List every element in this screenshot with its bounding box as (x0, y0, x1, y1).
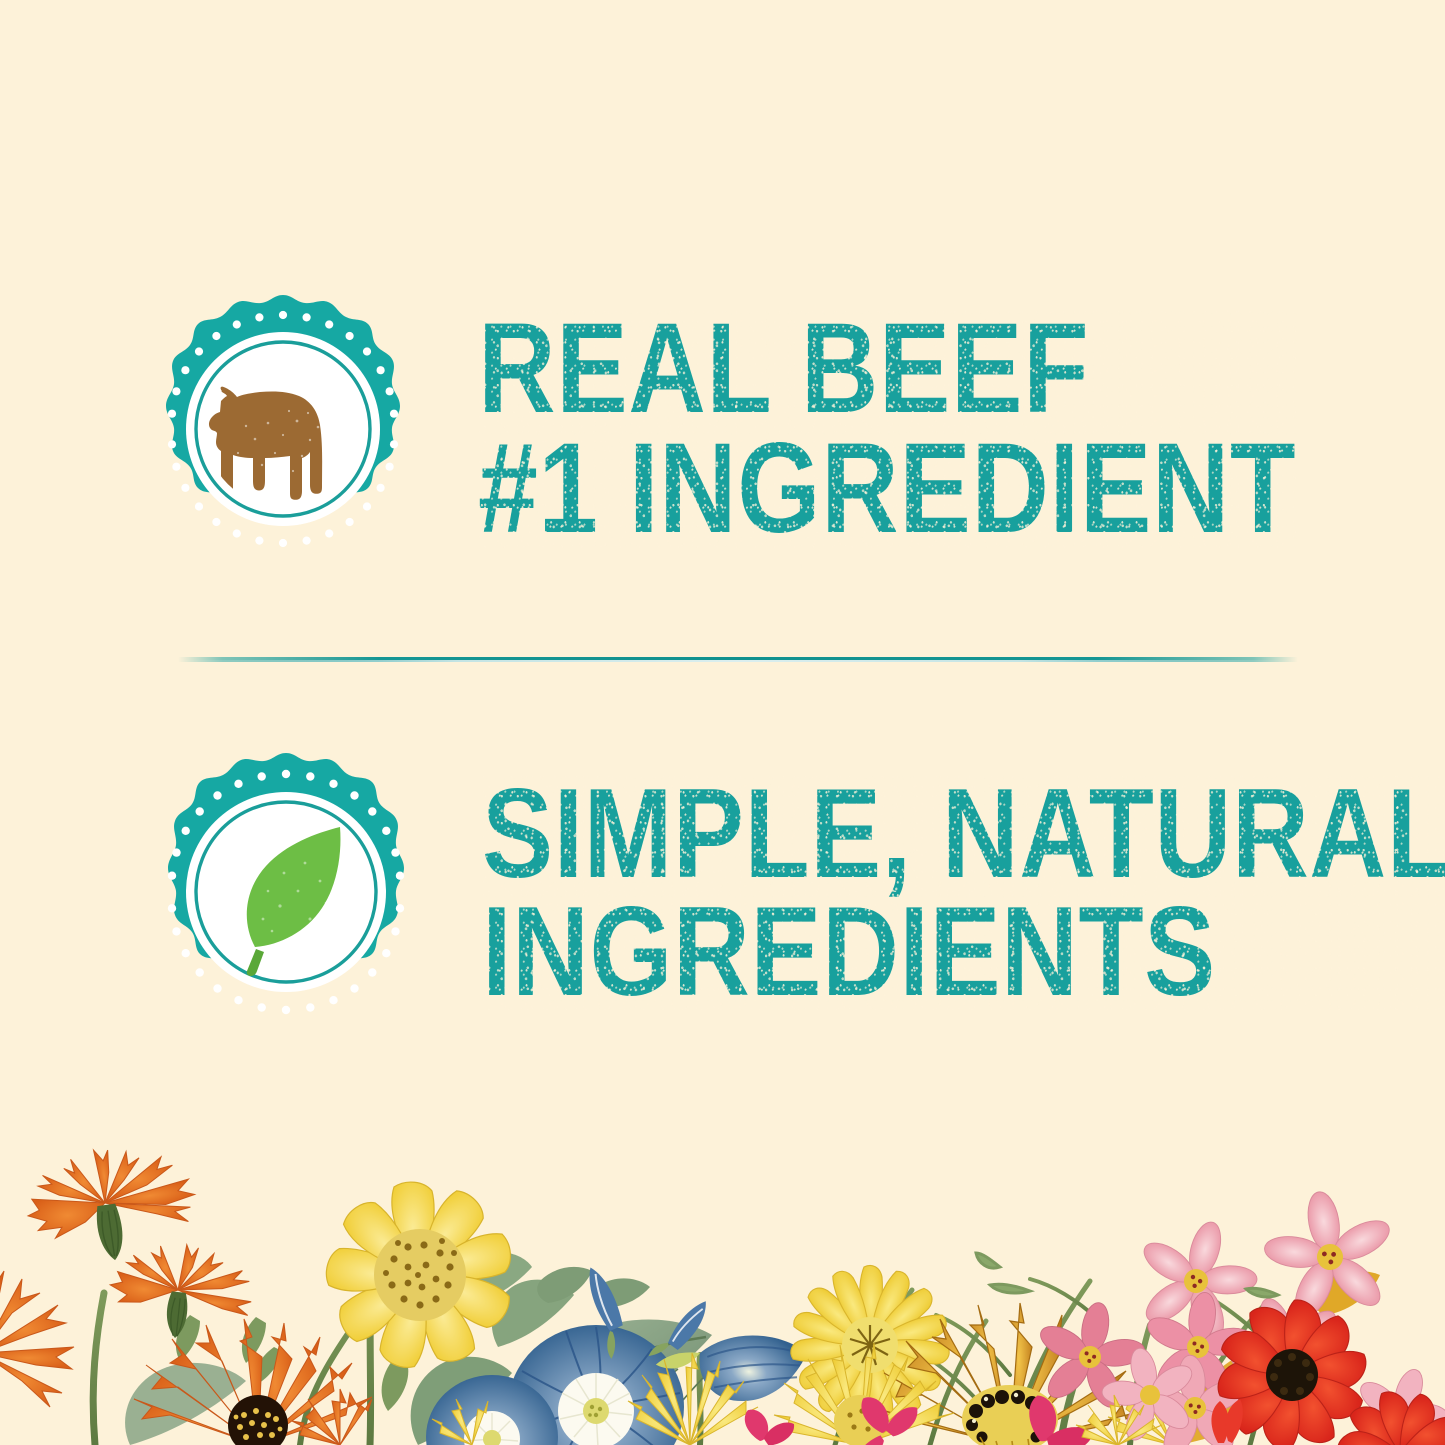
simple-natural-badge (150, 751, 422, 1033)
leaf-badge-graphic (150, 751, 422, 1033)
headline-line-1: SIMPLE, NATURAL (482, 774, 1445, 892)
feature-row-real-beef: REAL BEEF #1 INGREDIENT (0, 291, 1445, 566)
real-beef-badge (150, 293, 416, 565)
flower-illustration (0, 1085, 1445, 1445)
promo-panel: REAL BEEF #1 INGREDIENT (0, 0, 1445, 1445)
section-divider (178, 657, 1298, 662)
feature-row-simple-natural: SIMPLE, NATURAL INGREDIENTS (0, 752, 1445, 1032)
headline-line-1: REAL BEEF (478, 309, 1296, 428)
yellow-sunflower (324, 1182, 515, 1372)
headline-line-2: #1 INGREDIENT (478, 429, 1296, 548)
feature-headline-real-beef: REAL BEEF #1 INGREDIENT (478, 309, 1445, 547)
cow-badge-graphic (150, 293, 416, 565)
headline-line-2: INGREDIENTS (482, 892, 1445, 1010)
botanical-flower-border (0, 1085, 1445, 1445)
feature-headline-simple-natural: SIMPLE, NATURAL INGREDIENTS (482, 774, 1445, 1010)
